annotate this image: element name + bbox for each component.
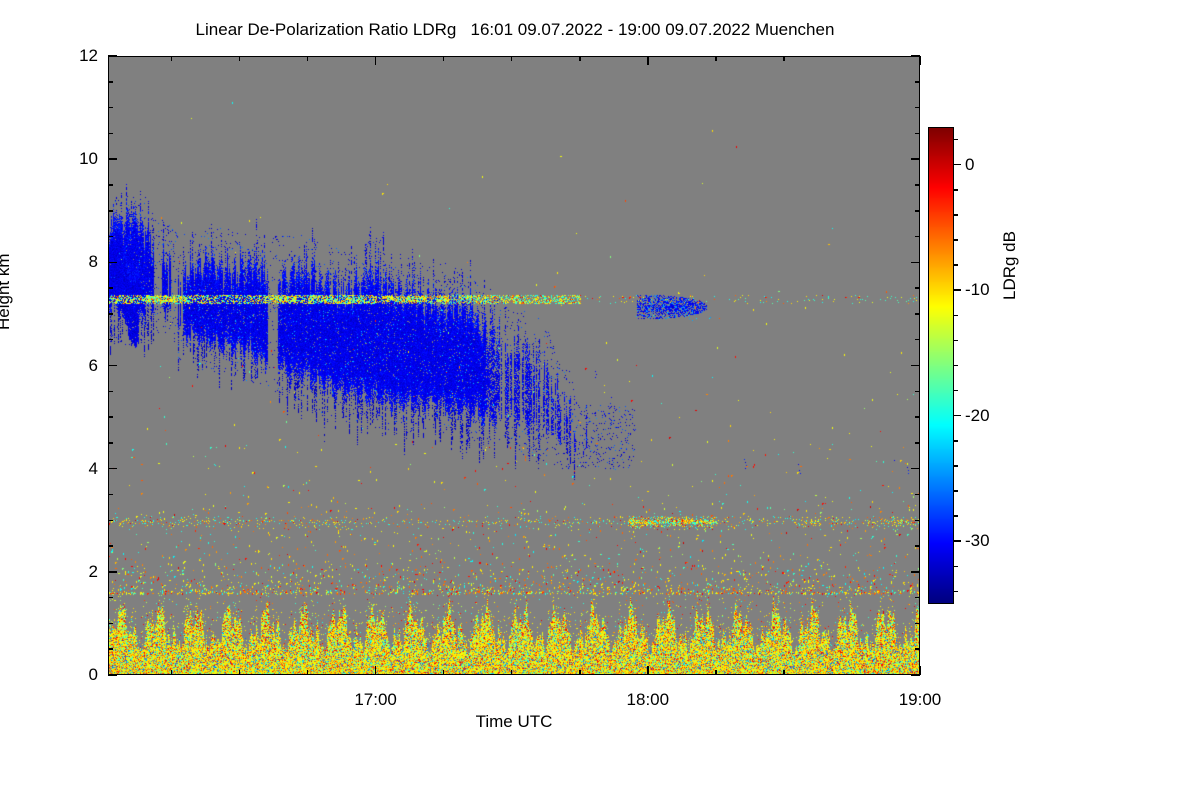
y-tick-major-right [911, 158, 920, 160]
y-tick-major-right [911, 262, 920, 264]
y-tick-major-right [911, 365, 920, 367]
x-tick-minor [307, 670, 309, 675]
y-tick-label: 2 [64, 563, 98, 580]
y-tick-minor [108, 107, 113, 109]
y-tick-minor [108, 520, 113, 522]
y-tick-label: 4 [64, 460, 98, 477]
x-tick-major [647, 666, 649, 675]
y-tick-major [108, 55, 117, 57]
y-tick-minor [108, 184, 113, 186]
colorbar-tick-major [954, 164, 961, 166]
colorbar-tick-minor [954, 315, 958, 317]
y-tick-minor [108, 81, 113, 83]
y-tick-label: 12 [64, 47, 98, 64]
colorbar-tick-minor [954, 239, 958, 241]
y-tick-label: 0 [64, 666, 98, 683]
x-tick-minor-top [443, 56, 445, 61]
colorbar: 0-10-20-30 [928, 127, 954, 604]
y-tick-minor-right [915, 313, 920, 315]
x-tick-minor-top [783, 56, 785, 61]
x-tick-minor-top [307, 56, 309, 61]
colorbar-tick-minor [954, 365, 958, 367]
y-tick-minor [108, 287, 113, 289]
y-tick-major [108, 262, 117, 264]
y-tick-minor [108, 236, 113, 238]
y-tick-minor-right [915, 339, 920, 341]
y-tick-major [108, 571, 117, 573]
y-tick-minor-right [915, 623, 920, 625]
colorbar-tick-label: -10 [965, 281, 990, 298]
x-tick-minor [783, 670, 785, 675]
y-tick-minor-right [915, 648, 920, 650]
x-tick-minor [239, 670, 241, 675]
colorbar-tick-minor [954, 490, 958, 492]
x-tick-label: 17:00 [331, 691, 421, 708]
y-tick-minor [108, 648, 113, 650]
colorbar-tick-label: -20 [965, 407, 990, 424]
x-tick-minor-top [171, 56, 173, 61]
y-tick-major [108, 674, 117, 676]
y-tick-major [108, 158, 117, 160]
y-tick-minor-right [915, 210, 920, 212]
y-tick-minor-right [915, 520, 920, 522]
y-tick-minor [108, 623, 113, 625]
x-axis-label: Time UTC [108, 712, 920, 732]
x-tick-major-top [919, 56, 921, 65]
x-tick-major [919, 666, 921, 675]
y-tick-minor-right [915, 184, 920, 186]
y-tick-minor-right [915, 236, 920, 238]
colorbar-tick-major [954, 415, 961, 417]
colorbar-title: LDRg dB [1000, 231, 1020, 300]
y-tick-minor-right [915, 107, 920, 109]
x-tick-minor-top [511, 56, 513, 61]
x-tick-minor [171, 670, 173, 675]
y-tick-minor-right [915, 287, 920, 289]
y-tick-label: 6 [64, 357, 98, 374]
y-tick-minor-right [915, 133, 920, 135]
y-tick-major-right [911, 468, 920, 470]
x-tick-minor-top [239, 56, 241, 61]
y-tick-label: 8 [64, 253, 98, 270]
y-tick-minor [108, 210, 113, 212]
y-tick-minor [108, 391, 113, 393]
y-tick-minor [108, 545, 113, 547]
colorbar-tick-major [954, 289, 961, 291]
colorbar-tick-minor [954, 515, 958, 517]
colorbar-tick-major [954, 540, 961, 542]
plot-page: Linear De-Polarization Ratio LDRg 16:01 … [0, 0, 1200, 800]
colorbar-gradient [928, 127, 954, 604]
colorbar-tick-minor [954, 340, 958, 342]
x-tick-major-top [647, 56, 649, 65]
colorbar-tick-label: -30 [965, 532, 990, 549]
plot-area [108, 56, 920, 675]
y-tick-minor [108, 133, 113, 135]
y-tick-minor [108, 339, 113, 341]
y-tick-minor-right [915, 442, 920, 444]
x-tick-minor-top [715, 56, 717, 61]
y-tick-major-right [911, 571, 920, 573]
colorbar-tick-minor [954, 189, 958, 191]
y-tick-minor-right [915, 391, 920, 393]
x-tick-minor [579, 670, 581, 675]
y-tick-major [108, 468, 117, 470]
x-tick-label: 19:00 [875, 691, 965, 708]
colorbar-tick-minor [954, 214, 958, 216]
y-tick-minor [108, 494, 113, 496]
heatmap-canvas [109, 57, 920, 675]
y-tick-label: 10 [64, 150, 98, 167]
y-tick-minor [108, 442, 113, 444]
y-tick-minor [108, 313, 113, 315]
y-tick-minor-right [915, 597, 920, 599]
x-tick-major-top [375, 56, 377, 65]
colorbar-tick-minor [954, 465, 958, 467]
x-tick-label: 18:00 [603, 691, 693, 708]
colorbar-tick-minor [954, 566, 958, 568]
x-tick-minor [443, 670, 445, 675]
x-tick-minor [715, 670, 717, 675]
y-tick-minor [108, 416, 113, 418]
y-tick-minor-right [915, 494, 920, 496]
y-tick-minor-right [915, 416, 920, 418]
y-axis-label: Height km [0, 253, 14, 330]
colorbar-tick-minor [954, 440, 958, 442]
colorbar-tick-minor [954, 390, 958, 392]
x-tick-minor-top [579, 56, 581, 61]
colorbar-tick-label: 0 [965, 156, 974, 173]
y-tick-minor [108, 597, 113, 599]
colorbar-tick-minor [954, 264, 958, 266]
x-tick-major [375, 666, 377, 675]
page-title: Linear De-Polarization Ratio LDRg 16:01 … [0, 20, 1030, 40]
y-tick-minor-right [915, 81, 920, 83]
y-tick-minor-right [915, 545, 920, 547]
colorbar-tick-minor [954, 591, 958, 593]
y-tick-major [108, 365, 117, 367]
colorbar-tick-minor [954, 139, 958, 141]
x-tick-minor [511, 670, 513, 675]
